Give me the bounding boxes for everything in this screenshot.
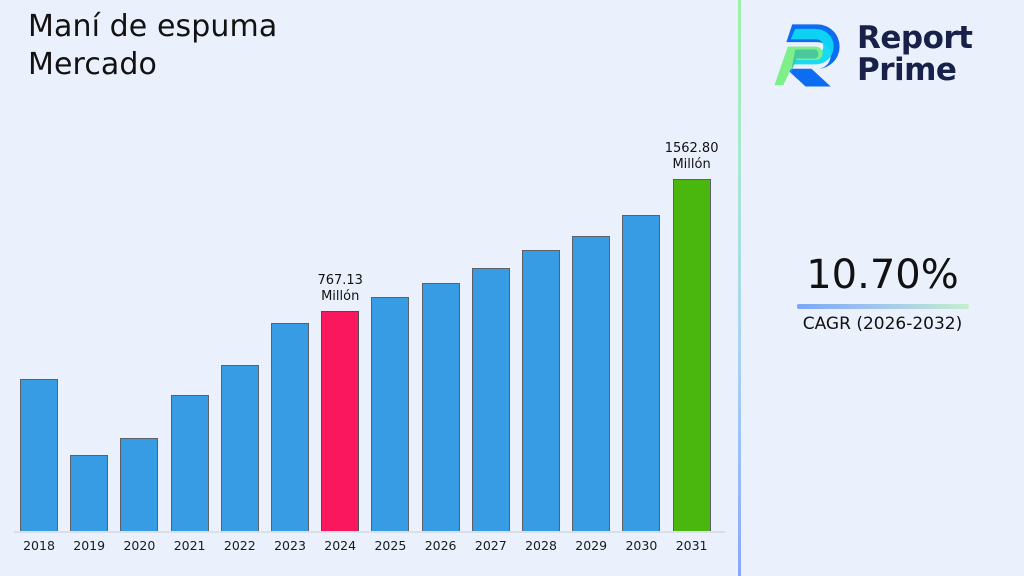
x-tick-label-2029: 2029 xyxy=(565,538,617,553)
right-panel: Report Prime 10.70% CAGR (2026-2032) xyxy=(741,0,1024,576)
bar-group-2022[interactable] xyxy=(221,365,259,531)
bar-group-2031[interactable]: 1562.80 Millón xyxy=(673,179,711,531)
bar-chart-plot: 767.13 Millón1562.80 Millón 201820192020… xyxy=(0,120,738,576)
chart-page: Maní de espuma Mercado 767.13 Millón1562… xyxy=(0,0,1024,576)
x-tick-label-2031: 2031 xyxy=(666,538,718,553)
page-title: Maní de espuma Mercado xyxy=(28,8,668,84)
cagr-caption: CAGR (2026-2032) xyxy=(741,313,1024,335)
x-axis-line xyxy=(14,531,725,533)
x-tick-label-2028: 2028 xyxy=(515,538,567,553)
brand-logo: Report Prime xyxy=(773,12,1008,96)
bar-group-2025[interactable] xyxy=(371,297,409,531)
bar-2029[interactable] xyxy=(572,236,610,531)
bar-group-2024[interactable]: 767.13 Millón xyxy=(321,311,359,531)
bar-2022[interactable] xyxy=(221,365,259,531)
bar-2028[interactable] xyxy=(522,250,560,531)
x-tick-label-2020: 2020 xyxy=(113,538,165,553)
bar-2026[interactable] xyxy=(422,283,460,531)
bar-group-2029[interactable] xyxy=(572,236,610,531)
x-tick-label-2021: 2021 xyxy=(164,538,216,553)
bar-group-2021[interactable] xyxy=(171,395,209,531)
bar-value-label-2031: 1562.80 Millón xyxy=(632,141,752,173)
bars-layer: 767.13 Millón1562.80 Millón xyxy=(0,120,738,576)
cagr-value: 10.70% xyxy=(741,252,1024,298)
bar-2031[interactable] xyxy=(673,179,711,531)
bar-2023[interactable] xyxy=(271,323,309,531)
x-tick-label-2030: 2030 xyxy=(615,538,667,553)
bar-group-2023[interactable] xyxy=(271,323,309,531)
x-tick-label-2026: 2026 xyxy=(415,538,467,553)
brand-name: Report Prime xyxy=(857,22,973,86)
x-tick-label-2023: 2023 xyxy=(264,538,316,553)
bar-2027[interactable] xyxy=(472,268,510,531)
bar-group-2019[interactable] xyxy=(70,455,108,531)
cagr-block: 10.70% CAGR (2026-2032) xyxy=(741,252,1024,335)
report-prime-r-logo-icon xyxy=(773,17,847,91)
bar-2018[interactable] xyxy=(20,379,58,531)
x-tick-label-2025: 2025 xyxy=(364,538,416,553)
bar-group-2020[interactable] xyxy=(120,438,158,531)
bar-group-2028[interactable] xyxy=(522,250,560,531)
bar-group-2026[interactable] xyxy=(422,283,460,531)
bar-group-2018[interactable] xyxy=(20,379,58,531)
x-tick-label-2027: 2027 xyxy=(465,538,517,553)
bar-2021[interactable] xyxy=(171,395,209,531)
bar-2024[interactable] xyxy=(321,311,359,531)
x-tick-label-2018: 2018 xyxy=(13,538,65,553)
bar-2030[interactable] xyxy=(622,215,660,531)
bar-group-2027[interactable] xyxy=(472,268,510,531)
bar-2019[interactable] xyxy=(70,455,108,531)
cagr-divider-rule xyxy=(797,304,969,309)
x-tick-label-2022: 2022 xyxy=(214,538,266,553)
bar-group-2030[interactable] xyxy=(622,215,660,531)
x-tick-label-2019: 2019 xyxy=(63,538,115,553)
bar-2025[interactable] xyxy=(371,297,409,531)
x-tick-label-2024: 2024 xyxy=(314,538,366,553)
bar-2020[interactable] xyxy=(120,438,158,531)
chart-panel: Maní de espuma Mercado 767.13 Millón1562… xyxy=(0,0,738,576)
